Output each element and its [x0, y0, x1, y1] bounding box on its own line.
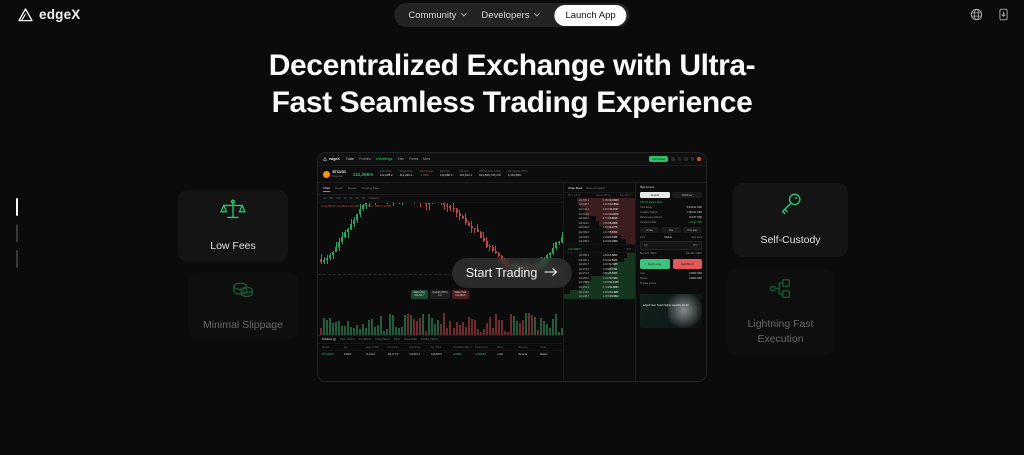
triangle-logo-icon: [18, 8, 33, 22]
leverage-button[interactable]: 20x: [661, 227, 680, 233]
positions-tab-closed-pnl[interactable]: Closed P&L: [404, 338, 417, 341]
headline-line-1: Decentralized Exchange with Ultra-: [269, 49, 756, 82]
chart-tabs: Chart Depth Details Funding Rate: [318, 183, 563, 195]
app-icon-wallet[interactable]: [697, 157, 701, 161]
chart-tab-depth[interactable]: Depth: [335, 186, 343, 192]
ticker-pair-type: Perpetual: [333, 175, 343, 178]
timeframe-1w[interactable]: 1W: [362, 197, 366, 200]
promo-banner[interactable]: edgeX Gen Seed Nights Liquidity for All: [640, 294, 702, 328]
order-book-tab[interactable]: Order Book: [568, 186, 582, 190]
deposit-button[interactable]: Deposit: [640, 192, 670, 198]
order-book-spread-row: 112,298.5 0.7: [564, 244, 635, 253]
coins-stack-icon: [230, 279, 256, 306]
app-icon-help[interactable]: [684, 157, 688, 161]
unrealized-pnl-row: Unrealized P&L+36.22 USD: [640, 221, 702, 224]
recent-trades-tab[interactable]: Recent Trades: [586, 186, 604, 190]
launch-app-button[interactable]: Launch App: [554, 5, 626, 26]
buy-long-button[interactable]: Buy/Long: [640, 259, 670, 269]
download-app-icon[interactable]: [997, 8, 1010, 26]
brand-name: edgeX: [39, 7, 81, 22]
positions-tab-open-orders[interactable]: Open Orders: [340, 338, 354, 341]
app-icon-notification[interactable]: [671, 157, 675, 161]
rail-step-1[interactable]: [16, 198, 18, 216]
ticker-stat-change: 24h Change-1.82%: [420, 170, 433, 179]
app-status-badge: Connected: [649, 156, 668, 162]
bitcoin-icon: [323, 171, 330, 178]
app-brand-logo: edgeX: [323, 157, 340, 161]
globe-icon[interactable]: [970, 8, 983, 26]
positions-panel: Positions (1) Open Orders Conditional Tr…: [318, 335, 563, 381]
available-margin-row: Available Margin7,910.01 USD: [640, 211, 702, 214]
key-icon: [779, 192, 803, 221]
trade-panel: Main Account Deposit Withdraw 100.0% Mar…: [636, 183, 706, 381]
headline-line-2: Fast Seamless Trading Experience: [272, 86, 753, 119]
position-mode-button[interactable]: One-way: [683, 227, 702, 233]
order-book-bids: 112,296.41.88201.8820112,290.10.63442.51…: [564, 253, 635, 299]
chart-quantity-field[interactable]: Quantity (BTC)1.0: [430, 290, 450, 299]
app-header: edgeX Trade Portfolio eXArbitrage Earn P…: [318, 153, 706, 166]
app-brand-name: edgeX: [329, 157, 340, 161]
timeframe-1d[interactable]: 1D: [355, 197, 358, 200]
ticker-stat-index: Index Price112,285.2: [380, 170, 393, 179]
positions-tab-conditional[interactable]: Conditional: [358, 338, 371, 341]
app-icon-language[interactable]: [691, 157, 695, 161]
top-navigation-bar: edgeX Community Developers Launch App: [0, 0, 1024, 30]
timeframe-15m[interactable]: 15m: [336, 197, 341, 200]
order-book-mid-price: 112,298.5: [568, 247, 581, 251]
sell-short-button[interactable]: Sell/Short: [673, 259, 703, 269]
nav-item-developers-label: Developers: [481, 10, 529, 21]
order-book-asks: 112,360.10.482112.8413112,348.71.204512.…: [564, 198, 635, 244]
app-nav-trade[interactable]: Trade: [346, 157, 354, 161]
feature-card-low-fees[interactable]: Low Fees: [178, 190, 288, 262]
positions-tab-positions[interactable]: Positions (1): [322, 338, 336, 341]
timeframe-1h[interactable]: 1h: [344, 197, 347, 200]
feature-card-self-custody[interactable]: Self-Custody: [733, 183, 848, 257]
chart-market-buy-button[interactable]: Market Buy112,301.7: [411, 290, 428, 299]
ticker-stat-turnover: 24h Turnover (USD)821,836,735,470: [479, 170, 501, 179]
scales-balance-icon: [220, 198, 246, 227]
rail-step-2[interactable]: [16, 224, 18, 242]
start-trading-button[interactable]: Start Trading: [452, 258, 572, 288]
ticker-stat-low: 24h Low110,520.1: [459, 170, 472, 179]
chart-market-buttons: Market Buy112,301.7 Quantity (BTC)1.0 Ma…: [411, 290, 468, 299]
trade-account-name: Main Account: [640, 186, 654, 189]
brand-logo[interactable]: edgeX: [18, 7, 81, 22]
ticker-stat-volume: 24h Volume (BTC)1,091,839: [508, 170, 528, 179]
app-nav-portfolio[interactable]: Portfolio: [359, 157, 371, 161]
chevron-down-icon: [533, 11, 540, 18]
feature-card-low-fees-label: Low Fees: [210, 239, 256, 253]
chevron-down-icon: [460, 11, 467, 18]
positions-tab-filled[interactable]: Filled: [394, 338, 400, 341]
order-book-panel: Order Book Recent Trades Price (USD) Amo…: [564, 183, 636, 381]
app-nav: Trade Portfolio eXArbitrage Earn Points …: [346, 157, 431, 161]
rail-step-3[interactable]: [16, 250, 18, 268]
order-book-tabs: Order Book Recent Trades: [564, 183, 635, 193]
timeframe-5m[interactable]: 5m: [329, 197, 332, 200]
ticker-stat-high: 24h High114,890.0: [440, 170, 453, 179]
volume-series: [318, 311, 563, 335]
indicators-button[interactable]: Indicators: [368, 197, 379, 200]
app-nav-points[interactable]: Points: [409, 157, 418, 161]
feature-card-self-custody-label: Self-Custody: [760, 233, 820, 247]
app-nav-earn[interactable]: Earn: [398, 157, 405, 161]
nav-pill: Community Developers Launch App: [394, 3, 629, 27]
order-action-buttons: Buy/Long Sell/Short: [640, 259, 702, 269]
app-header-right: Connected: [649, 156, 701, 162]
order-kind-row[interactable]: Limit Market Stop Limit: [640, 236, 702, 239]
buy-sell-toggle-row[interactable]: Buy with USDCSell with USDC: [640, 252, 702, 255]
feature-card-minimal-slippage[interactable]: Minimal Slippage: [188, 272, 298, 340]
table-row[interactable]: BTCUSDC 0.4821 54,132.0 112,177.8 112,32…: [318, 350, 563, 357]
margin-mode-button[interactable]: Cross: [640, 227, 659, 233]
feature-card-minimal-slippage-label: Minimal Slippage: [203, 318, 283, 332]
chart-tab-chart[interactable]: Chart: [323, 186, 330, 192]
order-book-spread: 0.7: [627, 247, 631, 251]
promo-title-row: Popular events: [640, 282, 702, 285]
ticker-last-price: 112,298.5: [353, 172, 373, 177]
top-right-icons: [970, 8, 1010, 26]
nav-item-community-label: Community: [408, 10, 456, 21]
margin-ratio-row: 100.0% Margin Ratio: [640, 201, 702, 204]
feature-card-lightning-fast-execution[interactable]: Lightning Fast Execution: [727, 268, 834, 356]
promo-glow-icon: [668, 294, 702, 328]
timeframe-1m[interactable]: 1m: [323, 197, 326, 200]
app-nav-exarbitrage[interactable]: eXArbitrage: [376, 157, 393, 161]
page-title: Decentralized Exchange with Ultra- Fast …: [0, 48, 1024, 121]
quantity-input[interactable]: Qty BTC: [640, 241, 702, 250]
chart-tab-funding[interactable]: Funding Rate: [362, 186, 379, 192]
chart-market-sell-button[interactable]: Market Sell112,290.4: [452, 290, 469, 299]
deposit-withdraw-segment: Deposit Withdraw: [640, 192, 702, 198]
nav-item-developers[interactable]: Developers: [481, 10, 540, 21]
positions-tabs: Positions (1) Open Orders Conditional Tr…: [318, 336, 563, 344]
chart-toolbar: 1m 5m 15m 1h 4h 1D 1W Indicators: [318, 195, 563, 203]
positions-tab-position-history[interactable]: Position History: [421, 338, 438, 341]
trade-account-row[interactable]: Main Account: [640, 186, 702, 189]
app-icon-settings[interactable]: [678, 157, 682, 161]
equity-row: Total Equity8,194.62 USD: [640, 206, 702, 209]
arrow-right-icon: [544, 266, 558, 280]
order-book-bid-row[interactable]: 112,238.71.335515.8312: [564, 294, 635, 299]
market-ticker: BTCUSD Perpetual 112,298.5 Index Price11…: [318, 166, 706, 183]
ticker-stat-oracle: Oracle Price112,290.4: [400, 170, 413, 179]
maintenance-margin-row: Maintenance Margin113.87 USD: [640, 216, 702, 219]
chart-ohlc-readout: O 112,640.9 H 113,022.1 L 112,108.4 C 11…: [321, 205, 391, 208]
timeframe-4h[interactable]: 4h: [350, 197, 353, 200]
order-margin-row: Margin0.0000 USD: [640, 277, 702, 280]
app-nav-more[interactable]: More: [423, 157, 430, 161]
order-cost-row: Cost0.0000 USD: [640, 272, 702, 275]
ticker-pair[interactable]: BTCUSD Perpetual: [323, 170, 346, 177]
order-type-segment: Cross 20x One-way: [640, 227, 702, 233]
nav-item-community[interactable]: Community: [408, 10, 467, 21]
scroll-progress-rail[interactable]: [16, 198, 18, 268]
network-nodes-icon: [769, 278, 793, 305]
chart-tab-details[interactable]: Details: [348, 186, 357, 192]
feature-card-lightning-fast-execution-label: Lightning Fast Execution: [727, 317, 834, 345]
positions-tab-trade-history[interactable]: Trade History: [375, 338, 390, 341]
order-book-ask-row[interactable]: 112,299.22.04902.0490: [564, 239, 635, 244]
start-trading-label: Start Trading: [466, 266, 538, 280]
withdraw-button[interactable]: Withdraw: [672, 192, 702, 198]
promo-banner-text: edgeX Gen Seed Nights Liquidity for All: [643, 304, 688, 308]
